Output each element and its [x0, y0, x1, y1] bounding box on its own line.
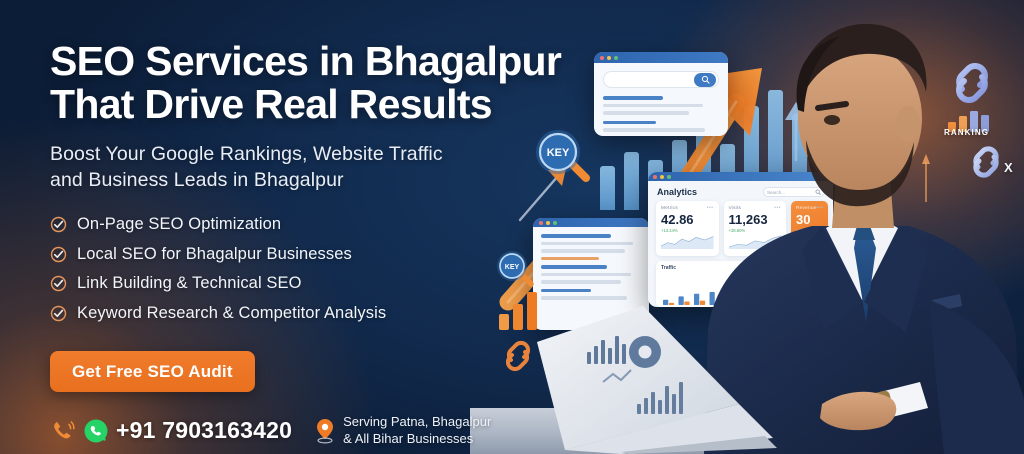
- location-line-2: & All Bihar Businesses: [343, 431, 491, 447]
- circle-check-icon: [50, 275, 67, 292]
- feature-label: On-Page SEO Optimization: [77, 215, 281, 234]
- get-free-seo-audit-button[interactable]: Get Free SEO Audit: [50, 351, 255, 392]
- location-text: Serving Patna, Bhagalpur & All Bihar Bus…: [343, 414, 491, 447]
- window-dot-red: [600, 56, 604, 60]
- phone-ringing-icon: [50, 418, 76, 444]
- analytics-title: Analytics: [657, 187, 697, 197]
- feature-list-item: Keyword Research & Competitor Analysis: [50, 304, 590, 323]
- phone-contact[interactable]: +91 7903163420: [50, 417, 292, 444]
- subtitle-line-1: Boost Your Google Rankings, Website Traf…: [50, 143, 443, 165]
- seo-hero-banner: Analytics Search... Metrics ••• 42.86: [0, 0, 1024, 454]
- location-info: Serving Patna, Bhagalpur & All Bihar Bus…: [314, 414, 491, 447]
- window-dot-red: [653, 175, 657, 179]
- window-dot-yellow: [607, 56, 611, 60]
- phone-number: +91 7903163420: [116, 417, 292, 444]
- subtitle-line-2: and Business Leads in Bhagalpur: [50, 169, 344, 191]
- hero-subtitle: Boost Your Google Rankings, Website Traf…: [50, 142, 590, 193]
- feature-list-item: Link Building & Technical SEO: [50, 274, 590, 293]
- hero-content: SEO Services in Bhagalpur That Drive Rea…: [50, 40, 590, 447]
- headline-line-1: SEO Services in Bhagalpur: [50, 38, 561, 84]
- window-dot-green: [614, 56, 618, 60]
- feature-list-item: Local SEO for Bhagalpur Businesses: [50, 245, 590, 264]
- map-pin-icon: [314, 418, 336, 444]
- stat-label: Metrics: [661, 206, 678, 211]
- headline-line-2: That Drive Real Results: [50, 83, 590, 126]
- location-line-1: Serving Patna, Bhagalpur: [343, 414, 491, 430]
- feature-label: Keyword Research & Competitor Analysis: [77, 304, 386, 323]
- window-dot-green: [667, 175, 671, 179]
- circle-check-icon: [50, 246, 67, 263]
- window-dot-yellow: [660, 175, 664, 179]
- circle-check-icon: [50, 305, 67, 322]
- feature-label: Local SEO for Bhagalpur Businesses: [77, 245, 352, 264]
- circle-check-icon: [50, 216, 67, 233]
- feature-label: Link Building & Technical SEO: [77, 274, 302, 293]
- page-title: SEO Services in Bhagalpur That Drive Rea…: [50, 40, 590, 127]
- whatsapp-icon: [83, 418, 109, 444]
- feature-list-item: On-Page SEO Optimization: [50, 215, 590, 234]
- contact-row: +91 7903163420 Serving Patna, Bhagalpur …: [50, 414, 590, 447]
- feature-list: On-Page SEO OptimizationLocal SEO for Bh…: [50, 215, 590, 323]
